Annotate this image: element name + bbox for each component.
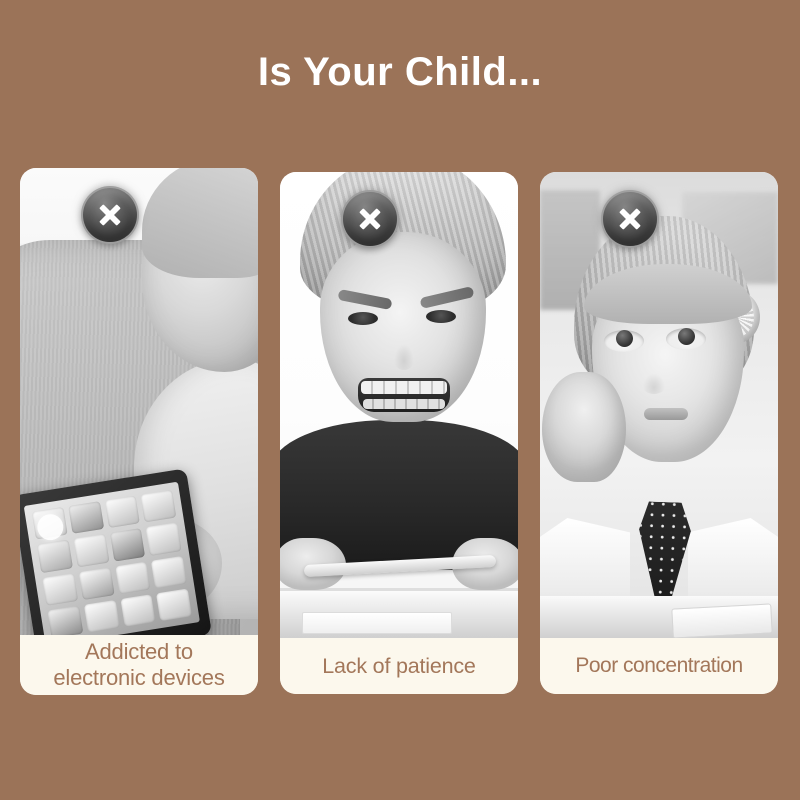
- red-x-error-icon: [343, 192, 397, 246]
- girl-eye-left-shape: [604, 330, 644, 352]
- tablet-device-shape: [20, 468, 212, 635]
- card-caption-bar-poor-concentration: Poor concentration: [540, 638, 778, 694]
- card-row: Addicted to electronic devices: [20, 168, 780, 696]
- boy-upper-teeth-shape: [361, 381, 447, 394]
- desk-paper-shape: [302, 612, 452, 634]
- girl-nose-shape: [640, 368, 668, 394]
- card-caption-bar-lack-of-patience: Lack of patience: [280, 638, 518, 694]
- tablet-screen-shape: [24, 482, 200, 635]
- boy-lower-teeth-shape: [363, 399, 445, 409]
- card-poor-concentration[interactable]: Poor concentration: [540, 172, 778, 694]
- card-caption-bar-addicted: Addicted to electronic devices: [20, 635, 258, 695]
- boy-eye-left-shape: [348, 312, 378, 325]
- open-book-shape: [671, 603, 772, 638]
- boy-mouth-shape: [358, 378, 450, 412]
- boy-eye-right-shape: [426, 310, 456, 323]
- red-x-error-icon: [603, 192, 657, 246]
- girl-mouth-shape: [644, 408, 688, 420]
- card-photo-addicted: [20, 168, 258, 635]
- header: Is Your Child...: [0, 0, 800, 168]
- red-x-error-icon: [83, 188, 137, 242]
- page-title: Is Your Child...: [258, 52, 542, 92]
- boy-nose-shape: [392, 340, 416, 370]
- card-photo-lack-of-patience: [280, 172, 518, 638]
- card-photo-poor-concentration: [540, 172, 778, 638]
- card-caption-text: Poor concentration: [575, 654, 742, 678]
- card-addicted-to-electronic-devices[interactable]: Addicted to electronic devices: [20, 168, 258, 695]
- card-caption-text: Lack of patience: [322, 654, 475, 679]
- card-lack-of-patience[interactable]: Lack of patience: [280, 172, 518, 694]
- card-caption-text: Addicted to electronic devices: [53, 639, 224, 690]
- child-hair-shape: [142, 168, 258, 278]
- girl-hand-shape: [542, 372, 626, 482]
- girl-eye-right-shape: [666, 328, 706, 350]
